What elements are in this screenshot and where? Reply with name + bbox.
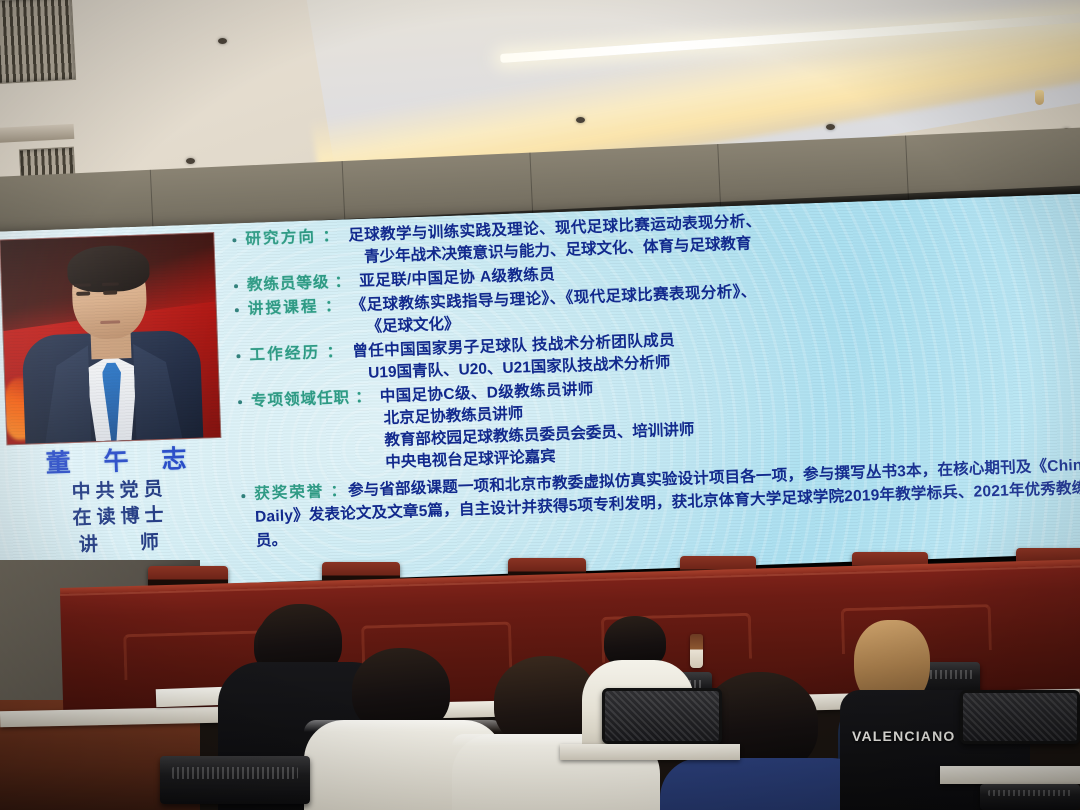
bullet-dot-icon [232, 238, 236, 242]
ceiling-spot-icon [576, 117, 585, 123]
air-vent-icon [0, 0, 76, 84]
bullet-dot-icon [238, 400, 242, 404]
paper-sheet [156, 687, 227, 707]
speaker-portrait-photo [0, 232, 221, 445]
monitor [980, 784, 1080, 810]
desk [560, 744, 740, 760]
monitor [160, 756, 310, 804]
bullet-label: 专项领域任职 ： [251, 385, 373, 411]
bullet-label: 工作经历 ： [249, 340, 345, 365]
presentation-slide: 董 午 志 中共党员 在读博士 讲师 研究方向 ： [0, 193, 1080, 604]
jersey-name-text: VALENCIANO [852, 728, 956, 744]
speaker-title-right: 师 [140, 532, 160, 554]
speaker-title: 讲师 [10, 528, 229, 560]
lecture-hall-photo: 董 午 志 中共党员 在读博士 讲师 研究方向 ： [0, 0, 1080, 810]
bullet-dot-icon [236, 354, 240, 358]
shirt-collar [304, 720, 504, 732]
pendant-bulb-icon [1035, 90, 1044, 105]
bullet-label: 研究方向 ： [245, 224, 341, 249]
office-chair [960, 690, 1080, 744]
ceiling-spot-icon [218, 38, 227, 44]
bullet-label: 讲授课程 ： [247, 294, 343, 319]
bullet-label: 教练员等级 ： [247, 269, 352, 295]
ceiling-spot-icon [186, 158, 195, 164]
speaker-name-block: 董 午 志 中共党员 在读博士 讲师 [7, 442, 229, 560]
bullet-dot-icon [241, 494, 245, 498]
led-screen: 董 午 志 中共党员 在读博士 讲师 研究方向 ： [0, 193, 1080, 604]
desk [940, 766, 1080, 784]
water-bottle [690, 634, 703, 668]
ceiling-spot-icon [826, 124, 835, 130]
speaker-name: 董 午 志 [7, 442, 226, 482]
slide-bullet-list: 研究方向 ： 足球教学与训练实践及理论、现代足球比赛运动表现分析、 青少年战术决… [232, 197, 1080, 554]
bullet-label: 获奖荣誉 ： [254, 483, 348, 503]
ceiling-trim [0, 124, 74, 143]
bullet-dot-icon [235, 308, 239, 312]
office-chair [602, 688, 722, 744]
bullet-dot-icon [234, 284, 238, 288]
speaker-title-left: 讲 [79, 534, 99, 556]
